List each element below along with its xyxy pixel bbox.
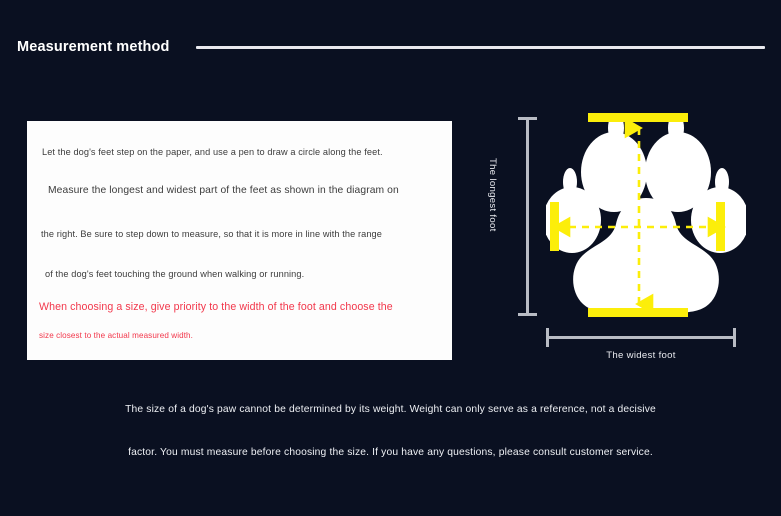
- longest-foot-label: The longest foot: [487, 158, 498, 232]
- longest-foot-bracket: [518, 117, 537, 316]
- bracket-cap-right: [733, 328, 736, 347]
- bracket-cap-bottom: [518, 313, 537, 316]
- header-divider: [196, 46, 765, 49]
- bracket-stem-horizontal: [546, 336, 736, 339]
- bracket-stem-vertical: [526, 117, 529, 316]
- page-header: Measurement method: [0, 36, 781, 66]
- instruction-line-2: Measure the longest and widest part of t…: [48, 184, 399, 197]
- instruction-highlight-line-2: size closest to the actual measured widt…: [39, 329, 193, 342]
- footer-note-line-1: The size of a dog's paw cannot be determ…: [0, 404, 781, 415]
- page-title: Measurement method: [17, 36, 170, 58]
- instruction-card: Let the dog's feet step on the paper, an…: [27, 121, 452, 360]
- widest-foot-label: The widest foot: [546, 350, 736, 361]
- instruction-line-3: the right. Be sure to step down to measu…: [41, 228, 382, 241]
- left-measure-bar: [550, 202, 559, 251]
- instruction-line-1: Let the dog's feet step on the paper, an…: [42, 146, 383, 159]
- footer-note: The size of a dog's paw cannot be determ…: [0, 404, 781, 458]
- footer-note-line-2: factor. You must measure before choosing…: [0, 447, 781, 458]
- bottom-measure-bar: [588, 308, 688, 317]
- widest-foot-bracket: [546, 328, 736, 347]
- top-measure-bar: [588, 113, 688, 122]
- right-measure-bar: [716, 202, 725, 251]
- instruction-highlight-line-1: When choosing a size, give priority to t…: [39, 301, 393, 314]
- paw-measurement-diagram: The longest foot: [480, 100, 770, 375]
- instruction-line-4: of the dog's feet touching the ground wh…: [45, 268, 304, 281]
